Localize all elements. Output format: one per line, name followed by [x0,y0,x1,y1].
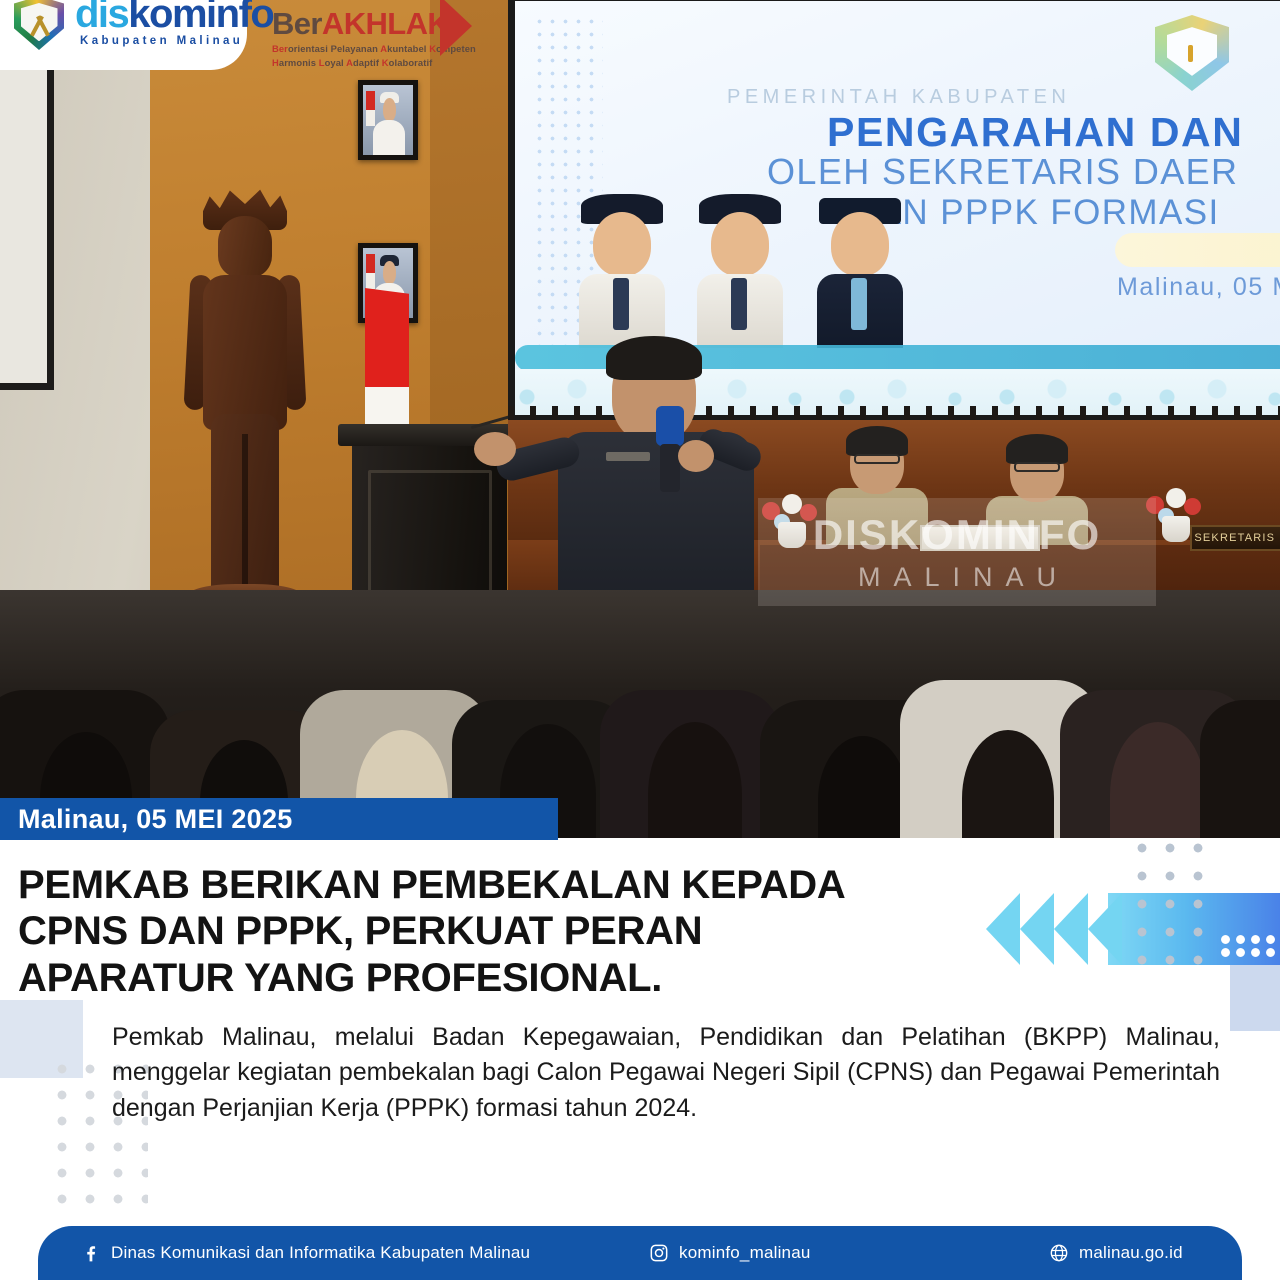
flower-vase [1162,516,1190,542]
footer-instagram[interactable]: kominfo_malinau [648,1242,811,1264]
official-head [593,212,651,276]
screen-highlight-pill [1115,233,1280,267]
wordmark-part1: dis [75,0,128,36]
diskominfo-wordmark: diskominfo [75,0,273,34]
statue-head [218,216,272,278]
portrait-head [383,261,396,285]
official-tie [613,278,629,330]
berakhlak-values-line2: Harmonis Loyal Adaptif Kolaboratif [272,57,476,70]
portrait-body [373,120,405,155]
footer: Dinas Komunikasi dan Informatika Kabupat… [0,1226,1280,1280]
event-photo: PEMERINTAH KABUPATEN PENGARAHAN DAN OLEH… [0,0,1280,840]
statue-legs [211,414,279,604]
official-tie [731,278,747,330]
facebook-icon [80,1242,102,1264]
footer-website-label: malinau.go.id [1079,1243,1183,1263]
watermark-line2: MALINAU [845,564,1069,591]
wordmark-part2: kominfo [128,0,273,36]
instagram-icon [648,1242,670,1264]
news-poster: PEMERINTAH KABUPATEN PENGARAHAN DAN OLEH… [0,0,1280,1280]
screen-title-line2: OLEH SEKRETARIS DAER [767,151,1238,193]
berakhlak-main: AKHLAK [322,6,449,41]
chevron-left-icon [1020,893,1054,965]
globe-icon [1048,1242,1070,1264]
official-tie [851,278,867,330]
malinau-regency-crest-icon [14,0,64,50]
flower-bloom [1184,498,1201,515]
watermark-line1: DISKOMINFO [813,514,1101,556]
article-headline: PEMKAB BERIKAN PEMBEKALAN KEPADA CPNS DA… [18,862,958,1001]
audience-body [1200,700,1280,840]
date-badge-label: Malinau, 05 MEI 2025 [0,804,293,835]
portrait-inner [363,85,413,155]
diskominfo-logo-plate: diskominfo Kabupaten Malinau [0,0,247,70]
berakhlak-prefix: Ber [272,6,322,41]
speaker-hand-left [474,432,516,466]
photo-watermark: DISKOMINFO MALINAU [758,498,1156,606]
kabupaten-malinau-logo-icon [1155,15,1229,91]
flower-bloom [1166,488,1186,508]
red-arrow-icon [440,0,472,56]
portrait-flag [366,254,375,289]
chevron-left-icon [986,893,1020,965]
footer-website[interactable]: malinau.go.id [1048,1242,1183,1264]
screen-official-photo-2 [693,190,787,355]
screen-official-photo-3 [813,190,907,355]
portrait-flag [366,91,375,126]
glasses-icon [854,454,900,464]
official-head [711,212,769,276]
article-content: Malinau, 05 MEI 2025 PEMKAB BERIKAN PEMB… [0,838,1280,1280]
statue-torso [203,275,287,430]
decoration-right [960,838,1280,1038]
diskominfo-subtitle: Kabupaten Malinau [80,35,243,47]
chevron-left-icon [1088,893,1122,965]
blue-square-accent [1230,965,1280,1031]
portrait-head [383,98,396,122]
microphone-handle [660,444,680,492]
handheld-microphone-icon [656,406,684,446]
dot-grid-pattern-white [1218,933,1280,959]
official-head [831,212,889,276]
screen-logo-mark [1188,45,1194,62]
speaker-nametag [606,452,650,461]
dot-grid-pattern [1128,834,1220,980]
screen-date-text: Malinau, 05 Mei [1117,273,1280,302]
footer-facebook[interactable]: Dinas Komunikasi dan Informatika Kabupat… [80,1242,530,1264]
screen-official-photo-1 [575,190,669,355]
screen-kabupaten-text: PEMERINTAH KABUPATEN [727,86,1070,109]
official-hair [846,426,908,456]
screen-title-line1: PENGARAHAN DAN [827,109,1243,156]
speaker-hand-right [678,440,714,472]
whiteboard [0,40,54,390]
chevron-left-icon [1054,893,1088,965]
date-badge: Malinau, 05 MEI 2025 [0,798,558,840]
headline-line-1: PEMKAB BERIKAN PEMBEKALAN KEPADA [18,862,958,908]
speaker-hair [606,336,702,380]
footer-facebook-label: Dinas Komunikasi dan Informatika Kabupat… [111,1243,530,1263]
nameplate-sekretaris-daerah: SEKRETARIS DAE [1190,525,1280,551]
official-hair [1006,434,1068,464]
footer-bar: Dinas Komunikasi dan Informatika Kabupat… [38,1226,1242,1280]
headline-line-3: APARATUR YANG PROFESIONAL. [18,955,958,1001]
footer-instagram-label: kominfo_malinau [679,1243,811,1263]
glasses-icon [1014,462,1060,472]
headline-line-2: CPNS DAN PPPK, PERKUAT PERAN [18,908,958,954]
portrait-frame-president [358,80,418,160]
